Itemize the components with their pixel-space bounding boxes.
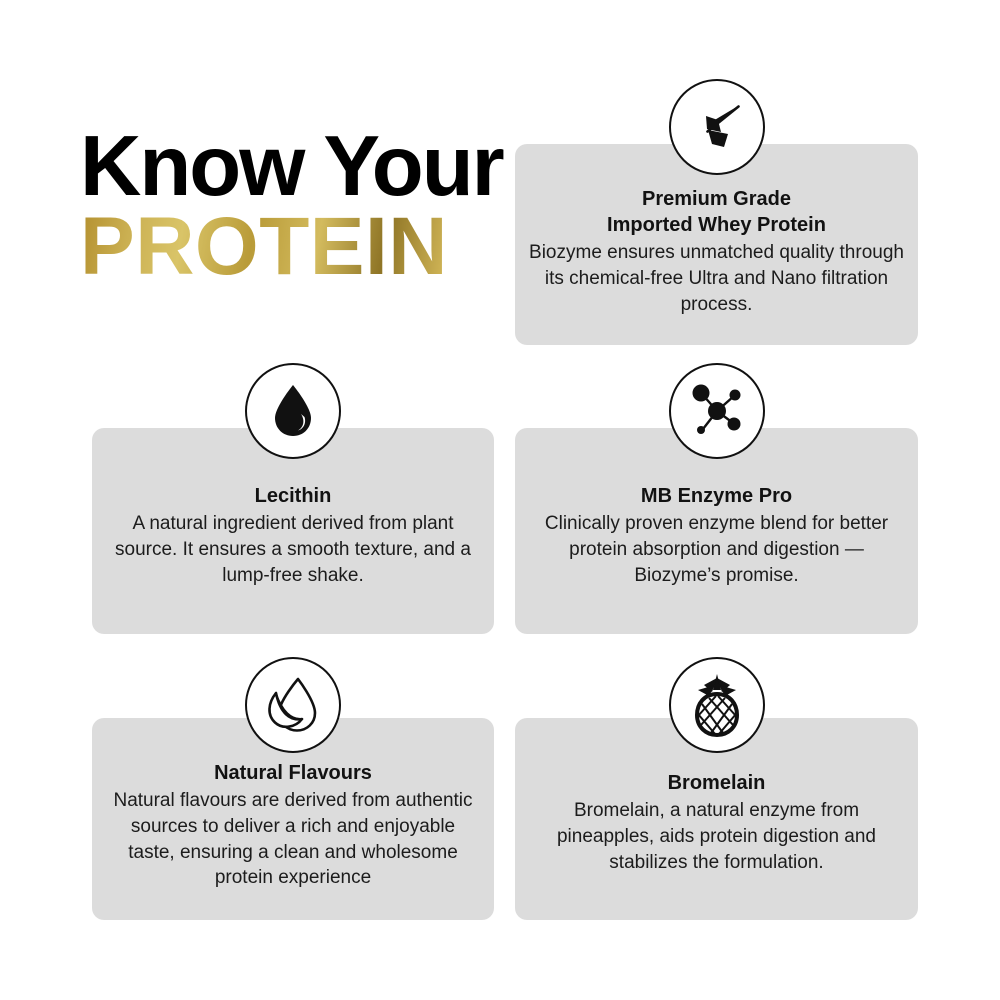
card-natural-flavours-description: Natural flavours are derived from authen… (106, 788, 480, 891)
card-lecithin-title: Lecithin (106, 483, 480, 509)
card-natural-flavours-title: Natural Flavours (106, 760, 480, 786)
card-mb-enzyme-pro-body: MB Enzyme Pro Clinically proven enzyme b… (515, 483, 918, 588)
card-premium-grade-body: Premium Grade Imported Whey Protein Bioz… (515, 186, 918, 317)
card-premium-grade-description: Biozyme ensures unmatched quality throug… (529, 240, 904, 317)
card-premium-grade-title-line1: Premium Grade (642, 188, 791, 210)
leaf-droplet-icon (245, 657, 341, 753)
card-bromelain-description: Bromelain, a natural enzyme from pineapp… (529, 798, 904, 875)
card-natural-flavours-body: Natural Flavours Natural flavours are de… (92, 760, 494, 891)
card-premium-grade-title-line2: Imported Whey Protein (607, 214, 826, 236)
card-premium-grade-title: Premium Grade Imported Whey Protein (529, 186, 904, 238)
infographic-page: Know Your PROTEIN Premium Grade Imported… (0, 0, 1000, 1000)
card-mb-enzyme-pro-description: Clinically proven enzyme blend for bette… (529, 511, 904, 588)
page-title: Know Your PROTEIN (80, 128, 510, 288)
page-title-line2: PROTEIN (80, 206, 510, 288)
protein-scoop-icon (669, 79, 765, 175)
molecule-icon (669, 363, 765, 459)
water-droplet-icon (245, 363, 341, 459)
page-title-line1: Know Your (80, 128, 510, 206)
card-lecithin-description: A natural ingredient derived from plant … (106, 511, 480, 588)
card-mb-enzyme-pro-title: MB Enzyme Pro (529, 483, 904, 509)
pineapple-icon (669, 657, 765, 753)
card-bromelain-body: Bromelain Bromelain, a natural enzyme fr… (515, 770, 918, 875)
card-lecithin-body: Lecithin A natural ingredient derived fr… (92, 483, 494, 588)
card-bromelain-title: Bromelain (529, 770, 904, 796)
